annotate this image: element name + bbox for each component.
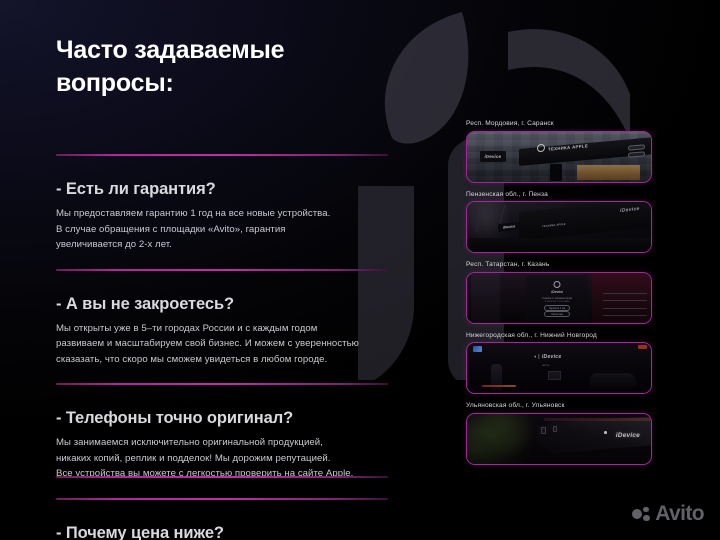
sign-brand: iDevice [503, 224, 516, 229]
faq-answer: Мы открыты уже в 5–ти городах России и с… [56, 321, 396, 368]
sign-brand: iDevice [484, 154, 501, 159]
sign-sub: APPLE [542, 365, 549, 367]
photo-saransk: ТЕХНИКА APPLE iDevice [467, 132, 651, 182]
poster-button-1: Гарантия 1 год [544, 305, 570, 311]
location-label: Пензенская обл., г. Пенза [466, 191, 656, 198]
photo-nizhny-novgorod: ◑ |iDevice APPLE [467, 343, 651, 393]
avito-watermark: Avito [632, 502, 704, 526]
sign-brand: iDevice [616, 432, 640, 439]
location-label: Респ. Татарстан, г. Казань [466, 261, 656, 268]
location-label: Ульяновская обл., г. Ульяновск [466, 402, 656, 409]
faq-item-4: - Почему цена ниже? С учетом наличия нес… [56, 498, 396, 540]
location-card[interactable]: Ульяновская обл., г. Ульяновск iDevice [466, 402, 656, 465]
sign-brand: iDevice [542, 354, 562, 360]
faq-item-1: - Есть ли гарантия? Мы предоставляем гар… [56, 154, 396, 253]
location-card[interactable]: Респ. Татарстан, г. Казань iDevice Техни… [466, 261, 656, 324]
avito-dots-icon [632, 507, 650, 522]
faq-slide: Часто задаваемые вопросы: - Есть ли гара… [0, 0, 720, 540]
location-label: Респ. Мордовия, г. Саранск [466, 120, 656, 127]
photo-ulyanovsk: iDevice [467, 414, 651, 464]
location-photo[interactable]: iDevice Техника от компании Apple в нали… [466, 272, 652, 324]
brand-ring-icon [554, 281, 561, 288]
poster: iDevice Техника от компании Apple в нали… [526, 275, 589, 321]
apple-icon [604, 431, 607, 434]
faq-item-3: - Телефоны точно оригинал? Мы занимаемся… [56, 383, 396, 482]
faq-column: Часто задаваемые вопросы: - Есть ли гара… [56, 34, 396, 540]
location-photo[interactable]: ◑ |iDevice APPLE [466, 342, 652, 394]
divider-rule-bottom [56, 476, 388, 478]
divider-rule [56, 383, 388, 385]
poster-line-2: в наличии и под заказ [545, 300, 569, 303]
sign-brand: iDevice [551, 290, 563, 294]
location-card[interactable]: Нижегородская обл., г. Нижний Новгород ◑… [466, 332, 656, 395]
location-photo[interactable]: iDevice [466, 413, 652, 465]
location-card[interactable]: Респ. Мордовия, г. Саранск ТЕХНИКА APPLE… [466, 120, 656, 183]
location-label: Нижегородская обл., г. Нижний Новгород [466, 332, 656, 339]
avito-wordmark: Avito [655, 502, 704, 526]
divider-rule [56, 154, 388, 156]
faq-question: - Почему цена ниже? [56, 524, 396, 540]
location-photo[interactable]: ТЕХНИКА APPLE iDevice [466, 131, 652, 183]
location-photo[interactable]: iDevice ТЕХНИКА APPLE iDevice [466, 201, 652, 253]
poster-button-2: Рассрочка [544, 311, 570, 317]
faq-answer: Мы предоставляем гарантию 1 год на все н… [56, 206, 396, 253]
divider-rule [56, 269, 388, 271]
location-card[interactable]: Пензенская обл., г. Пенза iDevice ТЕХНИК… [466, 191, 656, 254]
faq-question: - Телефоны точно оригинал? [56, 409, 396, 428]
faq-item-2: - А вы не закроетесь? Мы открыты уже в 5… [56, 269, 396, 368]
photo-kazan: iDevice Техника от компании Apple в нали… [467, 273, 651, 323]
locations-column: Респ. Мордовия, г. Саранск ТЕХНИКА APPLE… [466, 120, 656, 473]
poster-line-1: Техника от компании Apple [542, 297, 572, 300]
faq-answer: Мы занимаемся исключительно оригинальной… [56, 435, 396, 482]
photo-penza: iDevice ТЕХНИКА APPLE iDevice [467, 202, 651, 252]
page-title: Часто задаваемые вопросы: [56, 34, 396, 100]
divider-rule [56, 498, 388, 500]
faq-question: - А вы не закроетесь? [56, 295, 396, 314]
faq-question: - Есть ли гарантия? [56, 180, 396, 199]
